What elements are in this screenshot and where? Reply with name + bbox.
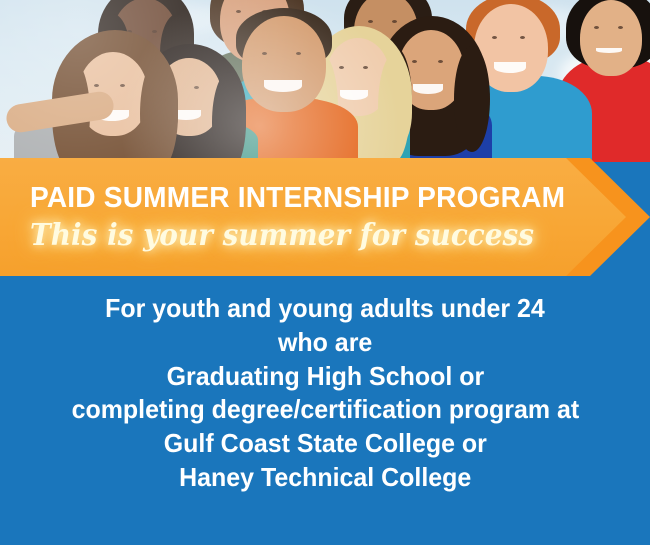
banner-tagline: This is your summer for success [30,220,528,252]
internship-flyer: PAID SUMMER INTERNSHIP PROGRAM This is y… [0,0,650,545]
eligibility-line: Graduating High School or [166,360,484,394]
banner-text-block: PAID SUMMER INTERNSHIP PROGRAM This is y… [0,158,566,276]
banner: PAID SUMMER INTERNSHIP PROGRAM This is y… [0,158,650,276]
eligibility-line: Gulf Coast State College or [163,427,486,461]
eligibility-line: completing degree/certification program … [71,393,579,427]
eligibility-line: Haney Technical College [179,461,471,495]
eligibility-line: who are [278,326,372,360]
eligibility-line: For youth and young adults under 24 [105,292,545,326]
group-photo [0,0,650,162]
banner-headline: PAID SUMMER INTERNSHIP PROGRAM [30,183,558,214]
eligibility-panel: For youth and young adults under 24 who … [0,276,650,545]
